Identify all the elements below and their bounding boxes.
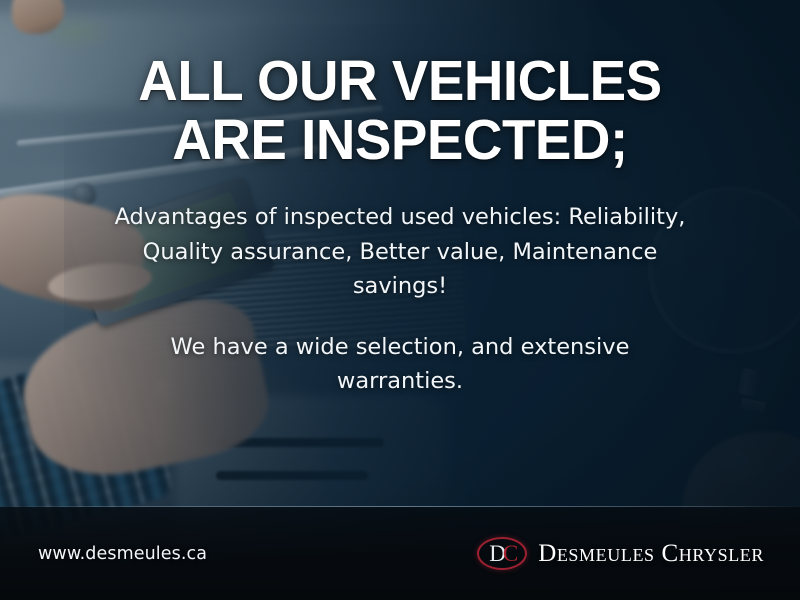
- body-copy: Advantages of inspected used vehicles: R…: [104, 200, 696, 398]
- body-paragraph-2: We have a wide selection, and extensive …: [104, 330, 696, 398]
- logo-dc-letters: DC: [489, 542, 515, 565]
- website-url[interactable]: www.desmeules.ca: [38, 544, 207, 564]
- headline: ALL OUR VEHICLES ARE INSPECTED;: [70, 52, 730, 169]
- logo-letter-c: C: [503, 541, 515, 566]
- logo-letter-d: D: [489, 541, 503, 566]
- logo-monogram-icon: DC: [477, 537, 527, 570]
- body-paragraph-1: Advantages of inspected used vehicles: R…: [104, 200, 696, 303]
- brand-logo[interactable]: DC Desmeules Chrysler: [477, 537, 764, 570]
- headline-line-2: ARE INSPECTED;: [70, 111, 730, 170]
- promo-banner: ALL OUR VEHICLES ARE INSPECTED; Advantag…: [0, 0, 800, 600]
- headline-line-1: ALL OUR VEHICLES: [70, 52, 730, 111]
- footer: www.desmeules.ca DC Desmeules Chrysler: [0, 507, 800, 600]
- logo-wordmark: Desmeules Chrysler: [538, 541, 764, 566]
